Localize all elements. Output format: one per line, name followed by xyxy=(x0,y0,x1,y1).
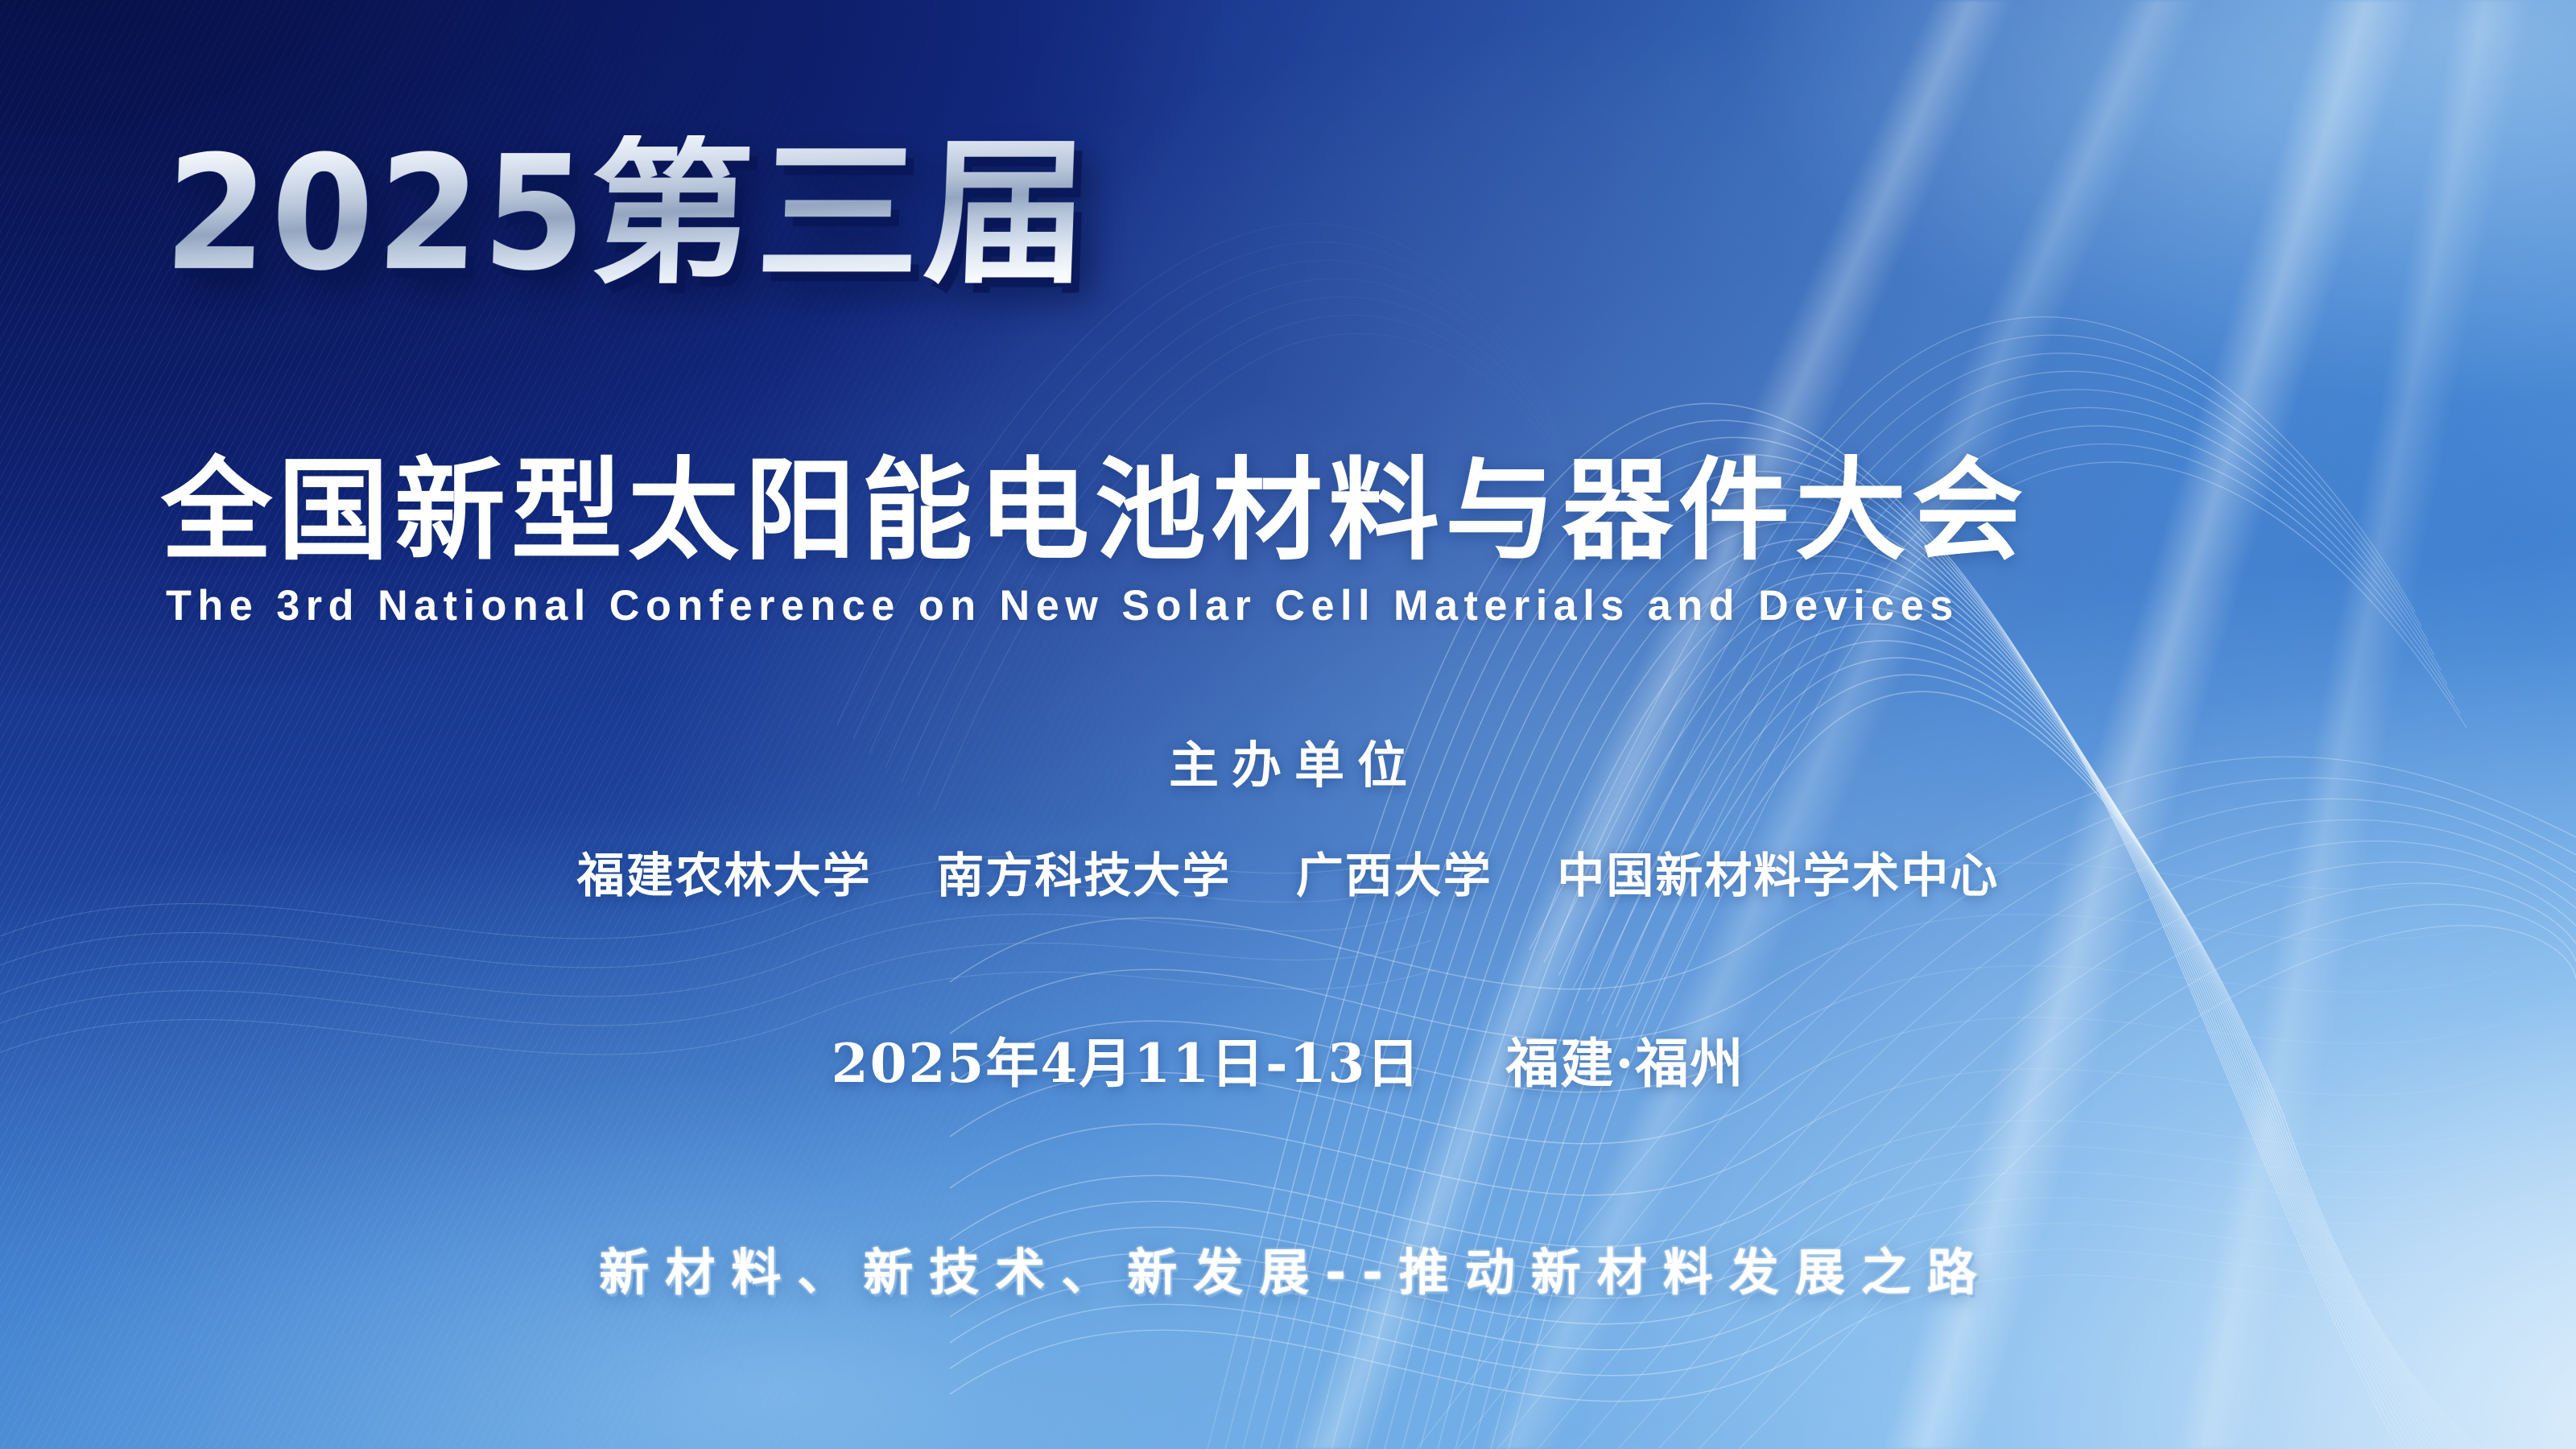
event-venue: 福建·福州 xyxy=(1505,1032,1744,1095)
page-title: 全国新型太阳能电池材料与器件大会 xyxy=(161,452,2423,570)
host-organization: 南方科技大学 xyxy=(936,837,1231,906)
host-organization: 广西大学 xyxy=(1296,837,1492,906)
host-organization-list: 福建农林大学 南方科技大学 广西大学 中国新材料学术中心 xyxy=(0,837,2576,906)
edition-kicker: 2025第三届 xyxy=(162,135,1094,293)
date-and-venue: 2025年4月11日-13日 福建·福州 xyxy=(0,1021,2576,1098)
conference-banner: 2025第三届 全国新型太阳能电池材料与器件大会 The 3rd Nationa… xyxy=(0,0,2576,1449)
host-section-label: 主办单位 xyxy=(0,724,2576,797)
event-date: 2025年4月11日-13日 xyxy=(832,1032,1422,1095)
page-subtitle-english: The 3rd National Conference on New Solar… xyxy=(166,581,2386,630)
host-organization: 中国新材料学术中心 xyxy=(1557,837,1999,906)
host-organization: 福建农林大学 xyxy=(577,837,872,906)
banner-content: 2025第三届 全国新型太阳能电池材料与器件大会 The 3rd Nationa… xyxy=(0,0,2576,1449)
event-slogan: 新材料、新技术、新发展--推动新材料发展之路 xyxy=(0,1232,2576,1304)
